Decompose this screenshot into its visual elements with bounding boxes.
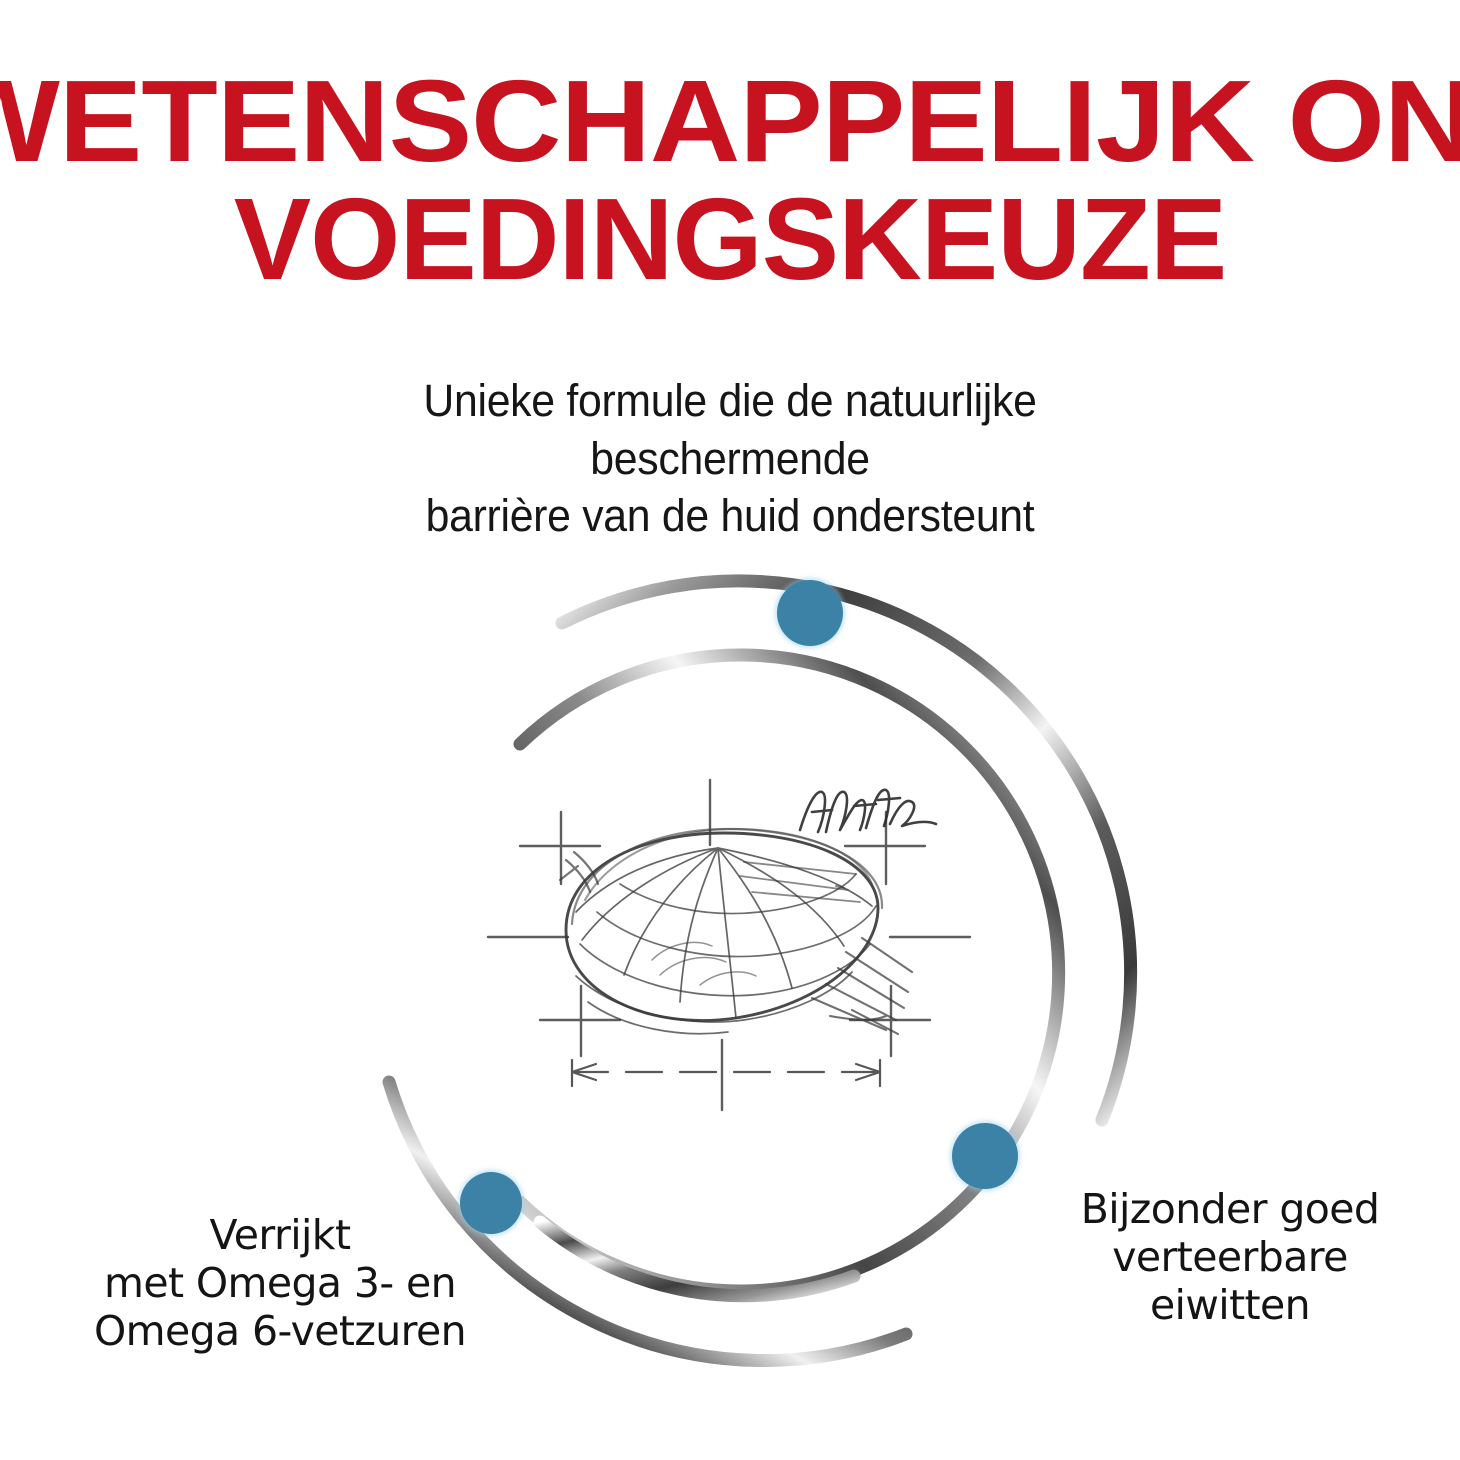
caption-protein: Bijzonder goed verteerbare eiwitten	[1030, 1186, 1430, 1330]
wireframe-latitudes	[576, 874, 876, 1034]
caption-omega-line-1: Verrijkt	[20, 1212, 540, 1260]
construction-flicks	[560, 852, 598, 892]
dimension-line	[572, 1060, 880, 1086]
caption-protein-line-2: verteerbare	[1030, 1234, 1430, 1282]
poster-canvas: WETENSCHAPPELIJK ONDERBOUWDE VOEDINGSKEU…	[0, 0, 1460, 1460]
kibble-shading	[652, 942, 756, 985]
caption-omega-line-3: Omega 6-vetzuren	[20, 1308, 540, 1356]
caption-omega: Verrijkt met Omega 3- en Omega 6-vetzure…	[20, 1212, 540, 1356]
node-dot-top-right[interactable]	[777, 580, 843, 646]
handwritten-signature-flourish	[800, 790, 936, 832]
kibble-technical-sketch	[488, 780, 970, 1110]
node-dot-right[interactable]	[952, 1123, 1018, 1189]
caption-omega-line-2: met Omega 3- en	[20, 1260, 540, 1308]
inner-ring	[520, 655, 1059, 1296]
speed-lines	[740, 862, 860, 902]
caption-protein-line-1: Bijzonder goed	[1030, 1186, 1430, 1234]
caption-protein-line-3: eiwitten	[1030, 1282, 1430, 1330]
